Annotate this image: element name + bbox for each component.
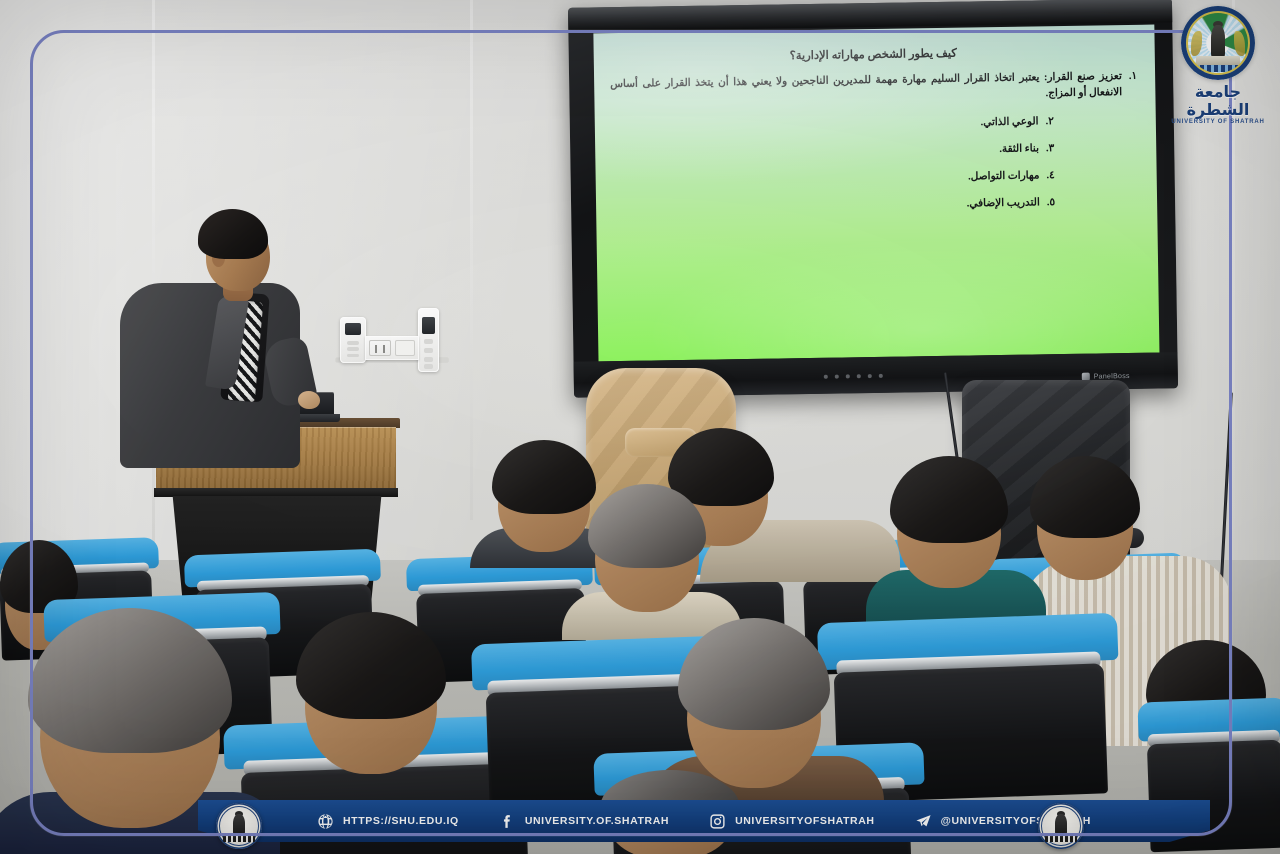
hair [890,456,1008,543]
wall-socket-plate[interactable] [365,336,419,360]
photo-canvas: كيف يطور الشخص مهاراته الإدارية؟ ١. تعزي… [0,0,1280,854]
audience-member [492,440,596,552]
display-control-keys[interactable] [824,374,883,379]
panel-button[interactable] [424,339,433,344]
hair [588,484,706,568]
slide-list-item: ٢. الوعي الذاتي. [611,112,1138,137]
telegram-icon [915,813,932,830]
podium-rail [154,488,398,497]
list-number: ٤. [1046,168,1055,184]
logo-outer-ring [1181,6,1255,80]
social-link-website[interactable]: HTTPS://SHU.EDU.IQ [317,813,459,830]
slide-list-item: ٥. التدريب الإضافي. [612,194,1139,219]
presentation-slide: كيف يطور الشخص مهاراته الإدارية؟ ١. تعزي… [593,25,1159,362]
list-text: مهارات التواصل. [612,168,1040,191]
slide-list-item: ٤. مهارات التواصل. [612,167,1139,192]
social-link-instagram[interactable]: UNIVERSITYOFSHATRAH [709,813,875,830]
slide-title: كيف يطور الشخص مهاراته الإدارية؟ [610,43,1137,65]
audience-member [1030,456,1140,580]
university-logo: جامعة الشطرة UNIVERSITY OF SHATRAH [1164,6,1272,125]
panel-button[interactable] [424,348,433,353]
slide-list: ١. تعزيز صنع القرار: يعتبر اتخاذ القرار … [610,69,1139,219]
emblem-figure-icon [233,814,246,836]
logo-name-english: UNIVERSITY OF SHATRAH [1164,119,1272,125]
social-label: HTTPS://SHU.EDU.IQ [343,815,459,827]
emblem-base [223,835,254,842]
instagram-icon [709,813,726,830]
panel-display [422,317,435,334]
list-number: ٥. [1047,195,1056,211]
slide-list-item: ٣. بناء الثقة. [611,140,1138,165]
logo-emblem [1181,6,1255,80]
hair [1030,456,1140,538]
audience-member-foreground [678,618,830,788]
footer-emblem-left [216,803,262,849]
display-screen: كيف يطور الشخص مهاراته الإدارية؟ ١. تعزي… [593,25,1159,362]
social-label: UNIVERSITYOFSHATRAH [735,815,875,827]
list-text: التدريب الإضافي. [612,196,1040,219]
presenter-hair [198,209,268,259]
logo-name-arabic: جامعة الشطرة [1164,83,1272,118]
wall-seam [470,0,473,520]
audience-member-foreground [296,612,446,774]
panel-button[interactable] [424,357,433,362]
list-number: ٢. [1045,114,1054,130]
list-text: تعزيز صنع القرار: يعتبر اتخاذ القرار الس… [610,69,1122,110]
footer-emblem-right [1038,803,1084,849]
facebook-icon [499,813,516,830]
light-switch[interactable] [395,340,415,356]
list-number: ١. [1129,69,1138,85]
ac-control-panel-secondary[interactable] [418,308,439,372]
presenter [120,205,320,465]
audience-member-foreground [28,608,232,828]
social-link-facebook[interactable]: UNIVERSITY.OF.SHATRAH [499,813,669,830]
emblem-base [1045,835,1076,842]
list-text: الوعي الذاتي. [611,114,1039,137]
panel-display [345,323,362,335]
panel-button[interactable] [347,354,358,358]
hair [678,618,830,730]
slide-list-item: ١. تعزيز صنع القرار: يعتبر اتخاذ القرار … [610,69,1137,110]
panel-button[interactable] [424,364,433,369]
globe-icon [317,813,334,830]
social-label: UNIVERSITY.OF.SHATRAH [525,815,669,827]
hair [28,608,232,753]
emblem-figure-icon [1055,814,1068,836]
power-socket-icon [369,340,391,356]
audience-member [890,456,1008,588]
audience-member [588,484,706,612]
hair [492,440,596,514]
list-text: بناء الثقة. [611,141,1039,164]
panel-button[interactable] [347,347,358,351]
presenter-hand [298,391,320,409]
display-brand-text: PanelBoss [1094,372,1130,380]
hair [296,612,446,719]
panel-button[interactable] [347,341,358,345]
smart-display[interactable]: كيف يطور الشخص مهاراته الإدارية؟ ١. تعزي… [568,0,1178,398]
ac-control-panel[interactable] [340,317,366,363]
list-number: ٣. [1046,141,1055,157]
